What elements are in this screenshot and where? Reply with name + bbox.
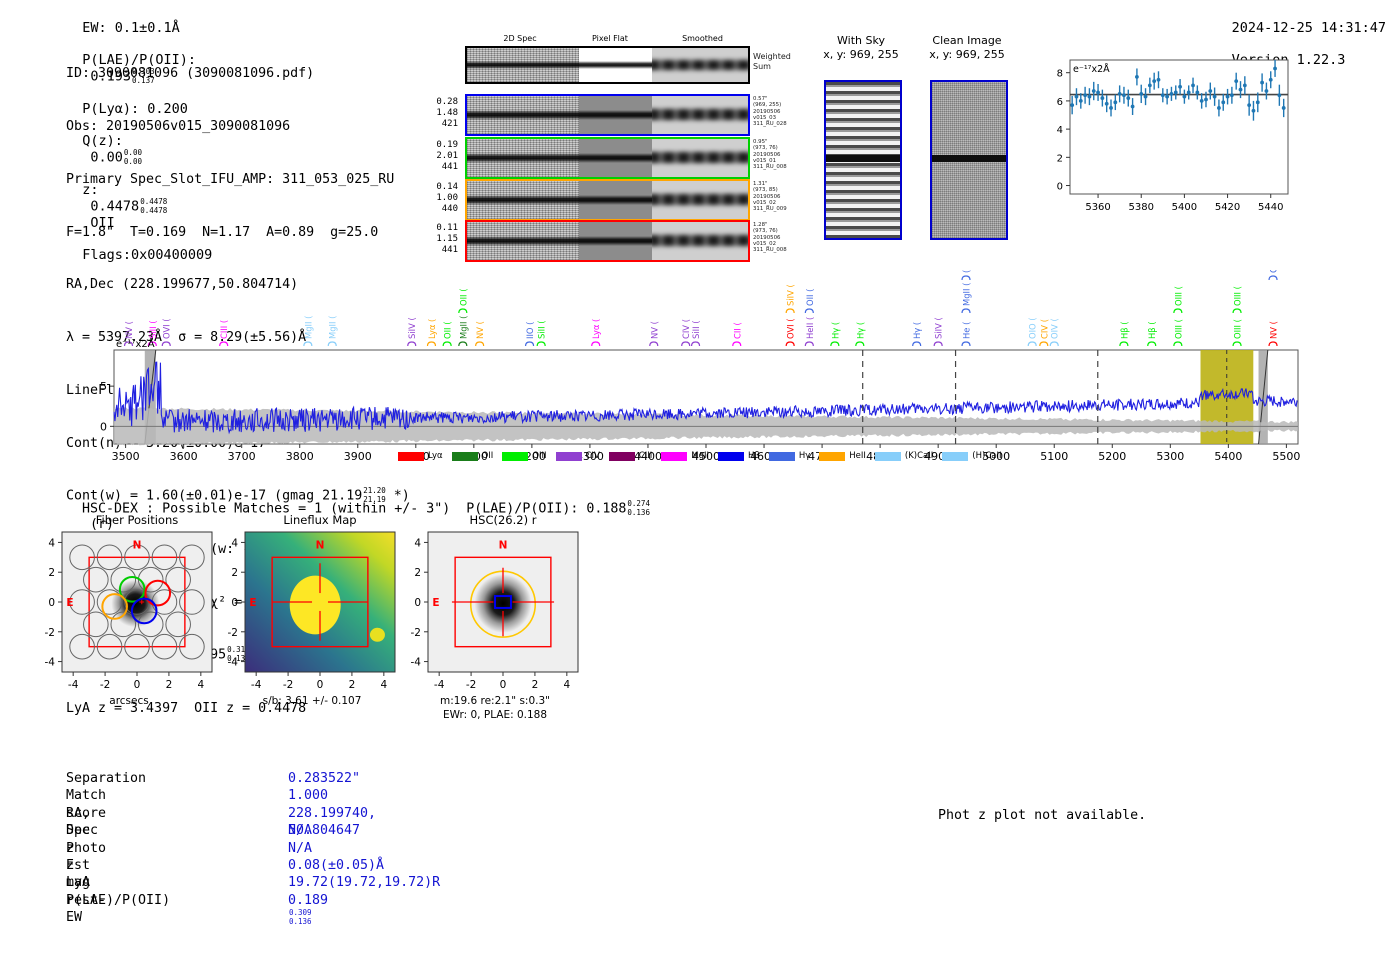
legend-swatch [452, 452, 478, 461]
table-value: 0.283522" [288, 770, 360, 787]
info-seeing: F=1.8" T=0.169 N=1.17 A=0.89 g=25.0 [66, 224, 410, 242]
svg-text:(H)CaII: (H)CaII [962, 270, 972, 273]
sky-panel[interactable]: NE-4-4-2-2002244 [215, 526, 409, 716]
svg-text:4: 4 [48, 537, 55, 549]
legend-item: OII [452, 451, 494, 461]
legend-label: Lyα [428, 451, 443, 461]
table-value: 0.1890.3090.136 [288, 892, 328, 927]
svg-text:0: 0 [317, 679, 324, 691]
svg-text:Hβ (: Hβ ( [1147, 321, 1157, 339]
info-primary-spec: Primary Spec_Slot_IFU_AMP: 311_053_025_R… [66, 171, 410, 189]
svg-text:IIO (: IIO ( [525, 322, 535, 339]
table-value: 1.000 [288, 787, 328, 804]
svg-text:0: 0 [500, 679, 507, 691]
panel-caption: EWr: 0, PLAE: 0.188 [398, 709, 592, 721]
spectrum-legend: LyαOIIOIIICIVCIIIMgIIHβHγHeII(K)CaII(H)C… [398, 451, 1010, 461]
svg-text:OIII (: OIII ( [1173, 286, 1183, 306]
legend-swatch [875, 452, 901, 461]
legend-item: CIII [609, 451, 652, 461]
svg-text:6: 6 [1057, 97, 1063, 108]
svg-text:SiII (: SiII ( [691, 320, 701, 339]
svg-text:OII (: OII ( [805, 289, 815, 306]
table-key: P(LAE)/P(OII) [66, 892, 170, 909]
svg-text:MgII (: MgII ( [458, 316, 468, 339]
svg-text:-2: -2 [466, 679, 476, 691]
legend-swatch [556, 452, 582, 461]
svg-text:5400: 5400 [1172, 202, 1197, 213]
svg-text:OVI (: OVI ( [162, 318, 172, 339]
legend-label: (H)CaII [972, 451, 1001, 461]
legend-item: HeII [819, 451, 866, 461]
legend-swatch [819, 452, 845, 461]
table-value-range: 0.3090.136 [289, 909, 312, 926]
svg-text:5100: 5100 [1040, 450, 1068, 463]
svg-text:4: 4 [231, 537, 238, 549]
spec2d-panel-group: 2D Spec Pixel Flat Smoothed WeightedSum … [455, 34, 775, 254]
svg-text:CIV (: CIV ( [681, 319, 691, 339]
timestamp: 2024-12-25 14:31:47 [1232, 20, 1386, 36]
svg-text:3500: 3500 [112, 450, 140, 463]
spec2d-row-meta: 0.95"(973, 76)20190506v015_01311_RU_008 [753, 139, 799, 170]
svg-text:0: 0 [231, 597, 238, 609]
hscdex-plae-range: 0.2740.136 [627, 500, 650, 517]
col-title-pixelflat: Pixel Flat [565, 34, 655, 43]
weighted-sum-strip [465, 46, 750, 84]
info-id: ID: 3090081096 (3090081096.pdf) [66, 65, 410, 83]
svg-text:0: 0 [134, 679, 141, 691]
svg-text:OII (: OII ( [458, 289, 468, 306]
legend-item: (H)CaII [942, 451, 1001, 461]
table-value: 19.72(19.72,19.72)R [288, 874, 440, 891]
svg-text:OII (: OII ( [443, 322, 453, 339]
svg-text:2: 2 [166, 679, 173, 691]
svg-text:-2: -2 [411, 627, 421, 639]
spec2d-row-meta: 0.57"(969, 255)20190506v015_03311_RU_028 [753, 96, 799, 127]
svg-text:Hγ (: Hγ ( [912, 322, 922, 339]
table-value: 0.08(±0.05)Å [288, 857, 384, 874]
legend-swatch [661, 452, 687, 461]
svg-text:SiIV (: SiIV ( [934, 317, 944, 339]
svg-text:-4: -4 [434, 679, 445, 691]
sky-panel[interactable]: NE-4-4-2-2002244 [398, 526, 592, 716]
spec2d-row[interactable] [465, 179, 750, 221]
svg-text:5360: 5360 [1085, 202, 1110, 213]
svg-text:OIII (: OIII ( [1173, 319, 1183, 339]
svg-text:SiII (: SiII ( [537, 320, 547, 339]
svg-text:OVI (: OVI ( [786, 318, 796, 339]
spec2d-row-values: 0.111.15441 [424, 223, 458, 256]
svg-text:NV (: NV ( [649, 321, 659, 339]
legend-label: CIII [639, 451, 652, 461]
table-value: N/A [288, 840, 312, 857]
panel-xlabel: arcsecs [32, 695, 226, 707]
line-profile-chart: 0246853605380540054205440e⁻¹⁷x2Å [1036, 52, 1294, 222]
svg-text:-4: -4 [228, 657, 239, 669]
table-key: mag [66, 874, 90, 891]
svg-text:e⁻¹⁷x2Å: e⁻¹⁷x2Å [1073, 63, 1110, 75]
svg-text:-4: -4 [411, 657, 422, 669]
legend-item: MgII [661, 451, 709, 461]
spec2d-row-meta: 1.28"(973, 76)20190506v015_02311_RU_008 [753, 222, 799, 253]
svg-text:E: E [249, 597, 256, 609]
svg-text:-2: -2 [45, 627, 55, 639]
svg-text:3900: 3900 [344, 450, 372, 463]
svg-text:5200: 5200 [1098, 450, 1126, 463]
svg-text:OIO (: OIO ( [1028, 317, 1038, 339]
svg-text:MgII (: MgII ( [962, 283, 972, 306]
with-sky-cutout[interactable] [824, 80, 902, 240]
svg-text:CIV (: CIV ( [1039, 319, 1049, 339]
svg-text:4: 4 [563, 679, 570, 691]
svg-text:e⁻¹⁷x2Å: e⁻¹⁷x2Å [116, 337, 155, 350]
svg-text:SiII (: SiII ( [148, 320, 158, 339]
legend-label: Hγ [799, 451, 810, 461]
svg-text:OIII (: OIII ( [1233, 286, 1243, 306]
svg-text:-2: -2 [228, 627, 238, 639]
spec2d-row-values: 0.281.48421 [424, 97, 458, 130]
svg-text:5420: 5420 [1215, 202, 1240, 213]
svg-text:Lyα (: Lyα ( [427, 319, 437, 339]
svg-text:0: 0 [48, 597, 55, 609]
svg-text:CIII (: CIII ( [219, 320, 229, 339]
svg-text:4: 4 [197, 679, 204, 691]
svg-text:Lyα (: Lyα ( [591, 319, 601, 339]
svg-text:OIV (: OIV ( [1050, 318, 1060, 339]
svg-text:-4: -4 [68, 679, 79, 691]
info-obs: Obs: 20190506v015_3090081096 [66, 118, 410, 136]
svg-text:-2: -2 [283, 679, 293, 691]
svg-text:Hβ (: Hβ ( [1119, 321, 1129, 339]
svg-text:2: 2 [349, 679, 356, 691]
svg-text:MgII (: MgII ( [303, 316, 313, 339]
svg-text:N: N [316, 539, 325, 551]
svg-text:5300: 5300 [1156, 450, 1184, 463]
svg-text:N: N [133, 539, 142, 551]
svg-text:-2: -2 [100, 679, 110, 691]
svg-text:SiIV (: SiIV ( [407, 317, 417, 339]
legend-swatch [398, 452, 424, 461]
legend-item: Hγ [769, 451, 810, 461]
sky-panel[interactable]: NE-4-4-2-2002244 [32, 526, 226, 716]
panel-title: HSC(26.2) r [404, 513, 602, 527]
legend-item: OIII [502, 451, 546, 461]
legend-item: (K)CaII [875, 451, 933, 461]
svg-text:5440: 5440 [1258, 202, 1283, 213]
panel-title: Lineflux Map [221, 513, 419, 527]
legend-label: OIII [532, 451, 546, 461]
svg-text:Hγ (: Hγ ( [855, 322, 865, 339]
legend-swatch [942, 452, 968, 461]
svg-text:2: 2 [414, 567, 421, 579]
svg-text:5500: 5500 [1272, 450, 1300, 463]
legend-item: Hβ [718, 451, 760, 461]
panel-caption: m:19.6 re:2.1" s:0.3" [398, 695, 592, 707]
legend-label: (K)CaII [905, 451, 933, 461]
svg-text:E: E [66, 597, 73, 609]
col-title-2dspec: 2D Spec [475, 34, 565, 43]
full-spectrum-chart: NV (SiII (OVI (CIII (MgII (MgII (SiIV (L… [88, 270, 1302, 470]
legend-swatch [502, 452, 528, 461]
panel-caption: s/b: 3.61 +/- 0.107 [215, 695, 409, 707]
legend-swatch [609, 452, 635, 461]
table-value: N/A [288, 822, 312, 839]
svg-text:-4: -4 [45, 657, 56, 669]
table-key: Separation [66, 770, 146, 787]
svg-text:0: 0 [100, 420, 107, 433]
panel-title: Fiber Positions [38, 513, 236, 527]
svg-text:5: 5 [100, 380, 107, 393]
svg-text:2: 2 [532, 679, 539, 691]
svg-text:5380: 5380 [1129, 202, 1154, 213]
svg-text:MgII (: MgII ( [328, 316, 338, 339]
svg-text:2: 2 [1057, 153, 1063, 164]
svg-text:4: 4 [1057, 125, 1063, 136]
legend-label: HeII [849, 451, 866, 461]
svg-text:E: E [432, 597, 439, 609]
spec2d-row-values: 0.141.00440 [424, 182, 458, 215]
svg-text:5400: 5400 [1214, 450, 1242, 463]
photz-note: Phot z plot not available. [938, 808, 1146, 823]
legend-label: Hβ [748, 451, 760, 461]
svg-text:CII (: CII ( [732, 322, 742, 339]
svg-text:NV (: NV ( [475, 321, 485, 339]
svg-text:0: 0 [1057, 182, 1063, 193]
svg-text:4: 4 [380, 679, 387, 691]
legend-label: MgII [691, 451, 709, 461]
legend-item: CIV [556, 451, 600, 461]
svg-text:SiIV (: SiIV ( [786, 284, 796, 306]
svg-text:3600: 3600 [170, 450, 198, 463]
legend-swatch [718, 452, 744, 461]
clean-image-cutout[interactable] [930, 80, 1008, 240]
spec2d-row-values: 0.192.01441 [424, 140, 458, 173]
svg-text:8: 8 [1057, 69, 1063, 80]
svg-text:N: N [499, 539, 508, 551]
svg-text:Hγ (: Hγ ( [830, 322, 840, 339]
legend-item: Lyα [398, 451, 443, 461]
svg-text:He (: He ( [962, 322, 972, 339]
svg-text:OIII (: OIII ( [1233, 319, 1243, 339]
cutout-title: Clean Image [902, 34, 1032, 47]
svg-text:3700: 3700 [228, 450, 256, 463]
legend-label: CIV [586, 451, 600, 461]
legend-label: OII [482, 451, 494, 461]
svg-text:OIII (: OIII ( [1269, 270, 1279, 273]
svg-text:4: 4 [414, 537, 421, 549]
svg-text:3800: 3800 [286, 450, 314, 463]
svg-text:NV (: NV ( [124, 321, 134, 339]
svg-text:-4: -4 [251, 679, 262, 691]
cutout-coords: x, y: 969, 255 [902, 48, 1032, 61]
spec2d-row[interactable] [465, 137, 750, 179]
svg-text:HeII (: HeII ( [805, 317, 815, 339]
svg-text:NV (: NV ( [1269, 321, 1279, 339]
col-title-smoothed: Smoothed [655, 34, 750, 43]
svg-text:2: 2 [48, 567, 55, 579]
legend-swatch [769, 452, 795, 461]
spec2d-row[interactable] [465, 94, 750, 136]
spec2d-row-meta: 1.31"(973, 85)20190506v015_02311_RU_009 [753, 181, 799, 212]
svg-text:0: 0 [414, 597, 421, 609]
spec2d-row[interactable] [465, 220, 750, 262]
svg-text:2: 2 [231, 567, 238, 579]
